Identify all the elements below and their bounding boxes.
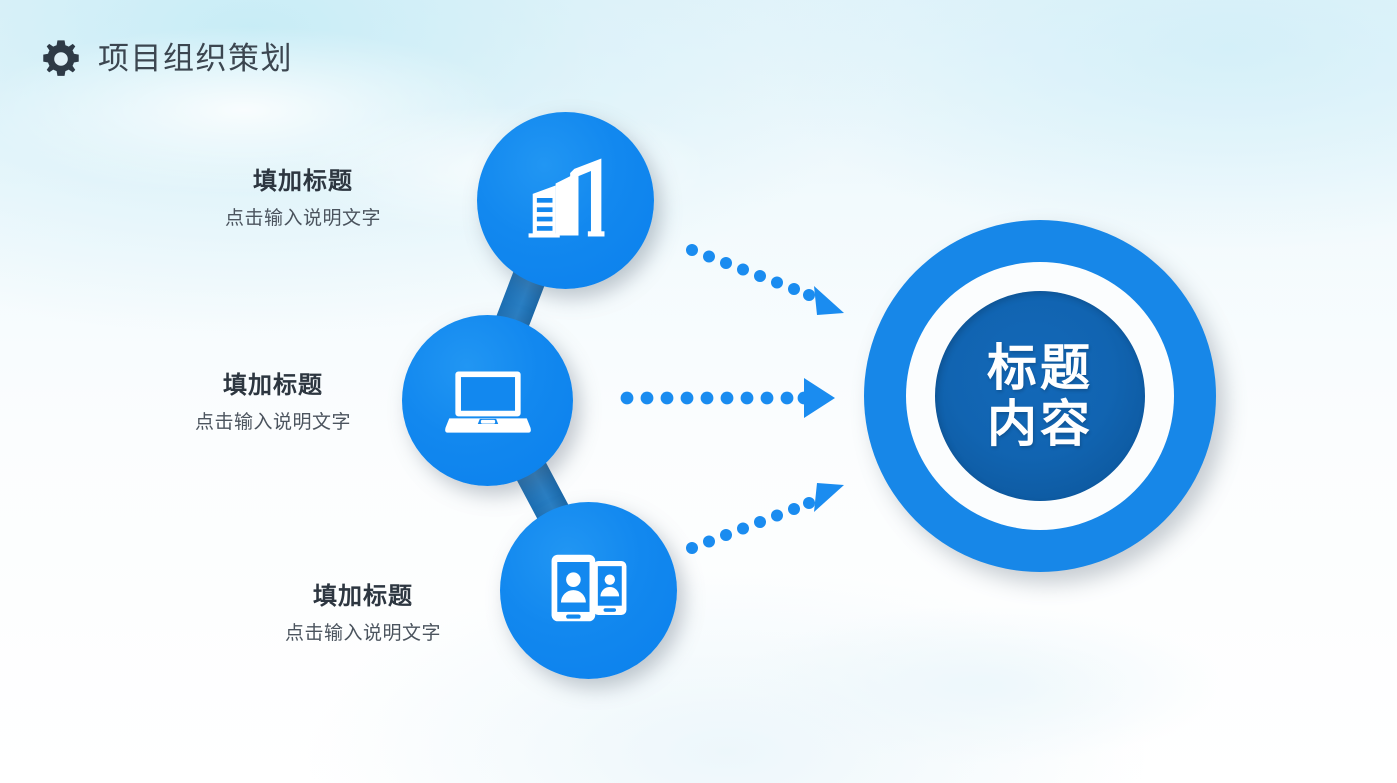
slide-header: 项目组织策划 (38, 36, 293, 82)
step-label-2: 填加标题 点击输入说明文字 (148, 372, 398, 433)
buildings-icon (514, 146, 618, 255)
page-title: 项目组织策划 (98, 44, 293, 75)
step-label-1: 填加标题 点击输入说明文字 (178, 168, 428, 229)
dotted-arrow-down-right-icon (686, 236, 846, 331)
step-title-3: 填加标题 (238, 583, 488, 609)
step-label-3: 填加标题 点击输入说明文字 (238, 583, 488, 644)
target-title-line-1: 标题 (987, 341, 1093, 395)
step-title-1: 填加标题 (178, 168, 428, 194)
laptop-icon (437, 347, 539, 454)
step-circle-1[interactable] (477, 112, 654, 289)
dotted-arrow-up-right-icon (686, 472, 846, 567)
step-desc-1: 点击输入说明文字 (178, 208, 428, 229)
slide-canvas: 项目组织策划 (0, 0, 1397, 783)
step-circle-2[interactable] (402, 315, 573, 486)
target-gap-ring: 标题 内容 (906, 262, 1174, 530)
gear-icon (38, 36, 84, 82)
target-circle[interactable]: 标题 内容 (864, 220, 1216, 572)
step-circle-3[interactable] (500, 502, 677, 679)
target-title-line-2: 内容 (987, 397, 1093, 451)
dotted-arrow-right-icon (620, 372, 835, 429)
step-desc-2: 点击输入说明文字 (148, 412, 398, 433)
step-title-2: 填加标题 (148, 372, 398, 398)
target-inner-circle: 标题 内容 (935, 291, 1145, 501)
mobile-users-icon (537, 536, 641, 645)
step-desc-3: 点击输入说明文字 (238, 623, 488, 644)
